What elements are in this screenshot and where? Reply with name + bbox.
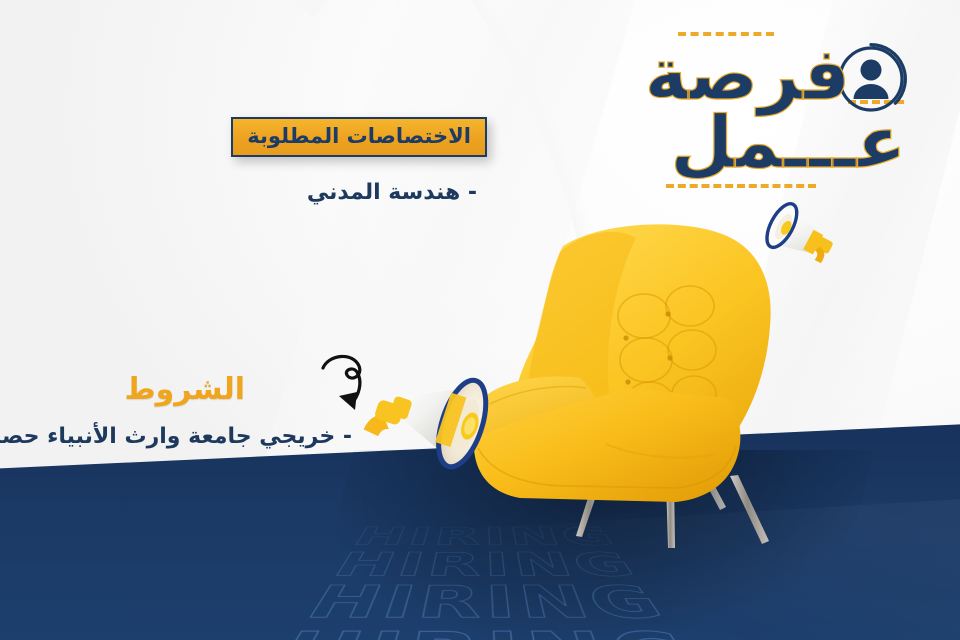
specializations-banner: الاختصاصات المطلوبة [231, 117, 487, 157]
condition-item: - خريجي جامعة وارث الأنبياء حصراً [0, 424, 352, 449]
job-opportunity-logo: فرصة عـــمل [622, 14, 912, 189]
megaphone-small-icon [756, 186, 866, 296]
specialization-item: - هندسة المدني [307, 180, 477, 205]
decor-dashed-line-bottom [666, 184, 816, 188]
conditions-title: الشروط [124, 372, 245, 407]
logo-word-work: عـــمل [670, 106, 906, 178]
curly-arrow-icon [313, 348, 375, 420]
job-opportunity-poster: HIRING HIRING HIRING HIRING [0, 0, 960, 640]
